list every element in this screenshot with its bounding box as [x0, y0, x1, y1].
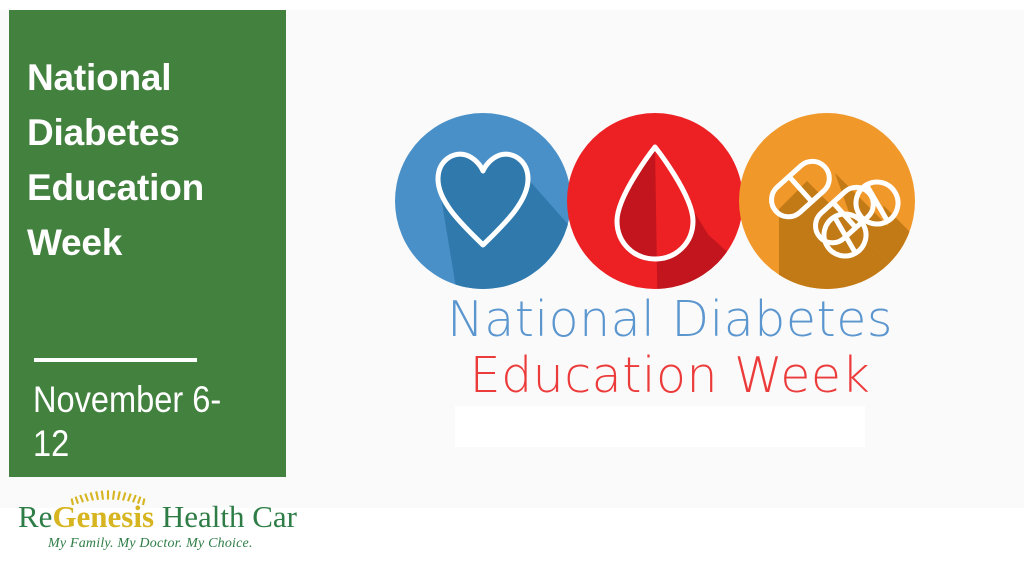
left-green-panel: National Diabetes Education Week Novembe…	[9, 10, 286, 477]
organization-logo: ReGenesis Health Car My Family. My Docto…	[18, 488, 268, 566]
logo-text-health-care: Health Car	[154, 499, 297, 534]
content-placeholder-box	[455, 406, 865, 447]
campaign-heading: National Diabetes Education Week	[380, 292, 960, 404]
campaign-graphic: National Diabetes Education Week	[380, 110, 960, 430]
blood-drop-icon	[565, 111, 745, 291]
event-date: November 6-12	[33, 378, 253, 466]
page-title: National Diabetes Education Week	[27, 50, 267, 270]
logo-wordmark: ReGenesis Health Car	[18, 500, 278, 533]
logo-text-re: Re	[18, 499, 52, 534]
headline-line-2: Education Week	[380, 348, 960, 404]
pills-icon	[737, 111, 917, 291]
icon-row	[380, 110, 960, 292]
slide-root: National Diabetes Education Week Novembe…	[0, 0, 1024, 576]
title-divider	[34, 358, 197, 362]
heart-icon	[393, 111, 573, 291]
logo-text-genesis: Genesis	[52, 499, 154, 534]
headline-line-1: National Diabetes	[380, 292, 960, 348]
logo-tagline: My Family. My Doctor. My Choice.	[48, 536, 253, 552]
